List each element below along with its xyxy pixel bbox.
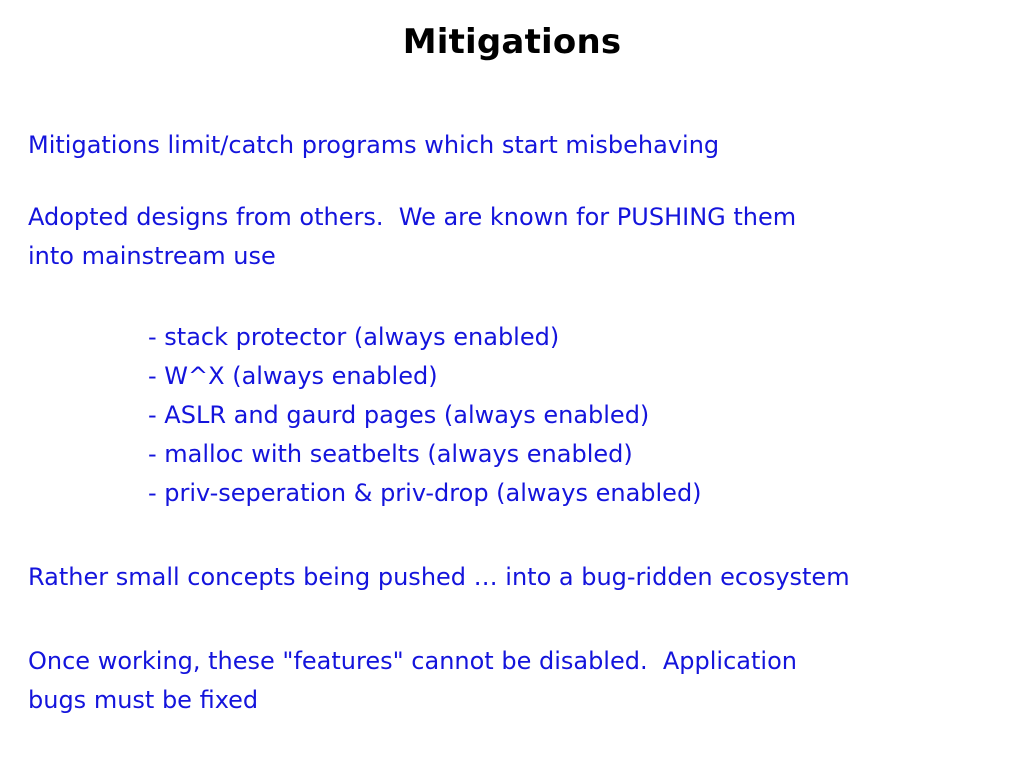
- paragraph-intro-line-1: Mitigations limit/catch programs which s…: [28, 126, 988, 165]
- paragraph-adopted-line-2: into mainstream use: [28, 237, 988, 276]
- list-item: - ASLR and gaurd pages (always enabled): [28, 396, 988, 435]
- paragraph-closing: Once working, these "features" cannot be…: [28, 642, 988, 720]
- paragraph-adopted-line-1: Adopted designs from others. We are know…: [28, 198, 988, 237]
- spacer-before-bullets: [28, 276, 988, 318]
- spacer-after-intro: [28, 165, 988, 198]
- spacer-before-closing: [28, 597, 988, 642]
- list-item: - priv-seperation & priv-drop (always en…: [28, 474, 988, 513]
- paragraph-pushed-line-1: Rather small concepts being pushed … int…: [28, 558, 988, 597]
- paragraph-pushed: Rather small concepts being pushed … int…: [28, 558, 988, 597]
- slide-body: Mitigations limit/catch programs which s…: [28, 126, 988, 720]
- paragraph-adopted: Adopted designs from others. We are know…: [28, 198, 988, 276]
- list-item: - malloc with seatbelts (always enabled): [28, 435, 988, 474]
- paragraph-closing-line-1: Once working, these "features" cannot be…: [28, 642, 988, 681]
- page-title: Mitigations: [0, 22, 1024, 62]
- list-item: - stack protector (always enabled): [28, 318, 988, 357]
- spacer-after-bullets: [28, 513, 988, 558]
- paragraph-closing-line-2: bugs must be fixed: [28, 681, 988, 720]
- paragraph-intro: Mitigations limit/catch programs which s…: [28, 126, 988, 165]
- mitigation-list: - stack protector (always enabled) - W^X…: [28, 318, 988, 513]
- slide-canvas: Mitigations Mitigations limit/catch prog…: [0, 0, 1024, 768]
- list-item: - W^X (always enabled): [28, 357, 988, 396]
